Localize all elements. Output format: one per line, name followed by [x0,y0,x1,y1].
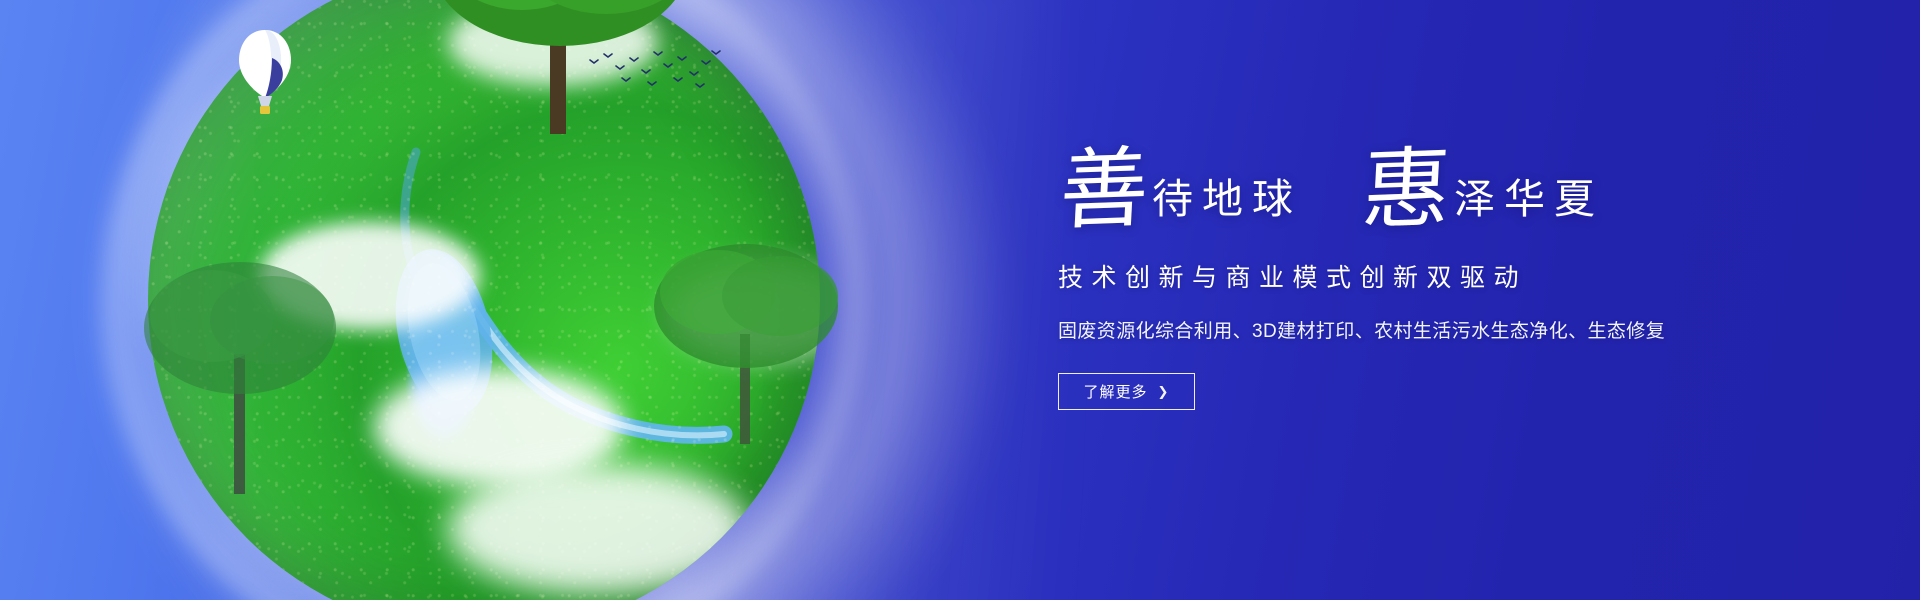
page-title: 善 待地球 惠 泽华夏 [1058,136,1838,232]
cloud-icon [374,368,624,486]
cloud-icon [668,264,820,360]
globe-surface [148,0,820,600]
river-icon [148,0,820,600]
headline-brush-char-1: 善 [1058,148,1150,232]
subtitle: 技术创新与商业模式创新双驱动 [1058,258,1838,294]
hero-banner: 善 待地球 惠 泽华夏 技术创新与商业模式创新双驱动 固废资源化综合利用、3D建… [0,0,1920,600]
cloud-icon [448,0,658,86]
headline-small-1: 待地球 [1152,179,1302,232]
learn-more-label: 了解更多 [1084,381,1148,402]
banner-copy: 善 待地球 惠 泽华夏 技术创新与商业模式创新双驱动 固废资源化综合利用、3D建… [1058,136,1838,410]
chevron-right-icon: ❯ [1158,385,1170,398]
description: 固废资源化综合利用、3D建材打印、农村生活污水生态净化、生态修复 [1058,316,1838,343]
headline-small-2: 泽华夏 [1454,179,1604,232]
cloud-icon [260,222,480,330]
headline-brush-char-2: 惠 [1360,148,1452,232]
cloud-icon [448,464,748,594]
green-earth-globe [148,0,820,600]
learn-more-button[interactable]: 了解更多 ❯ [1058,373,1195,410]
